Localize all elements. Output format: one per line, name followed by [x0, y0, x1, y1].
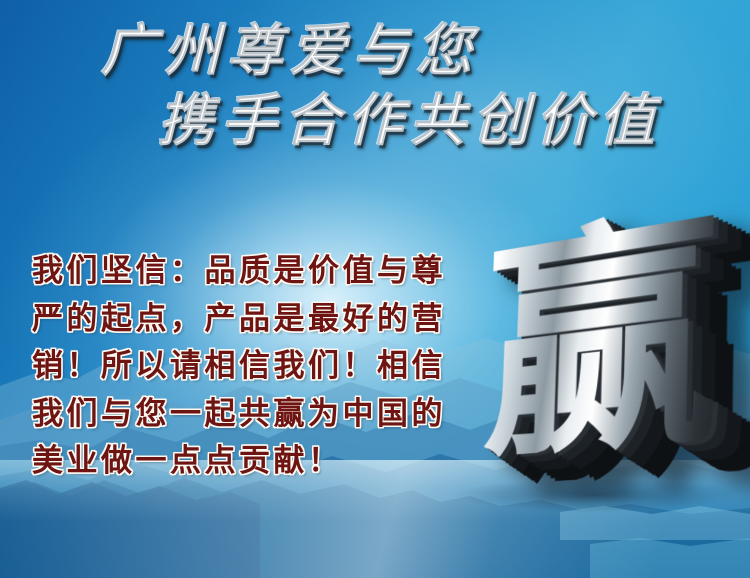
body-copy-block: 我们坚信：品质是价值与尊 严的起点，产品是最好的营 销！所以请相信我们！相信 我… — [32, 248, 480, 486]
body-copy-line-3: 销！所以请相信我们！相信 — [32, 343, 480, 391]
body-copy-line-1: 我们坚信：品质是价值与尊 — [32, 248, 480, 296]
promotional-banner: 赢 赢 广州尊爱与您 携手合作共创价值 我们坚信：品质是价值与尊 严的起点，产品… — [0, 0, 750, 578]
body-copy-line-2: 严的起点，产品是最好的营 — [32, 296, 480, 344]
win-character-glyph: 赢 — [466, 180, 737, 503]
headline-line-1: 广州尊爱与您 — [0, 16, 750, 86]
win-character-3d-sculpture: 赢 — [452, 196, 732, 498]
body-copy-line-5: 美业做一点点贡献！ — [32, 438, 480, 486]
headline-block: 广州尊爱与您 携手合作共创价值 — [0, 16, 750, 156]
headline-line-2: 携手合作共创价值 — [0, 86, 750, 156]
water-band-lower-right — [590, 538, 750, 578]
body-copy-line-4: 我们与您一起共赢为中国的 — [32, 391, 480, 439]
